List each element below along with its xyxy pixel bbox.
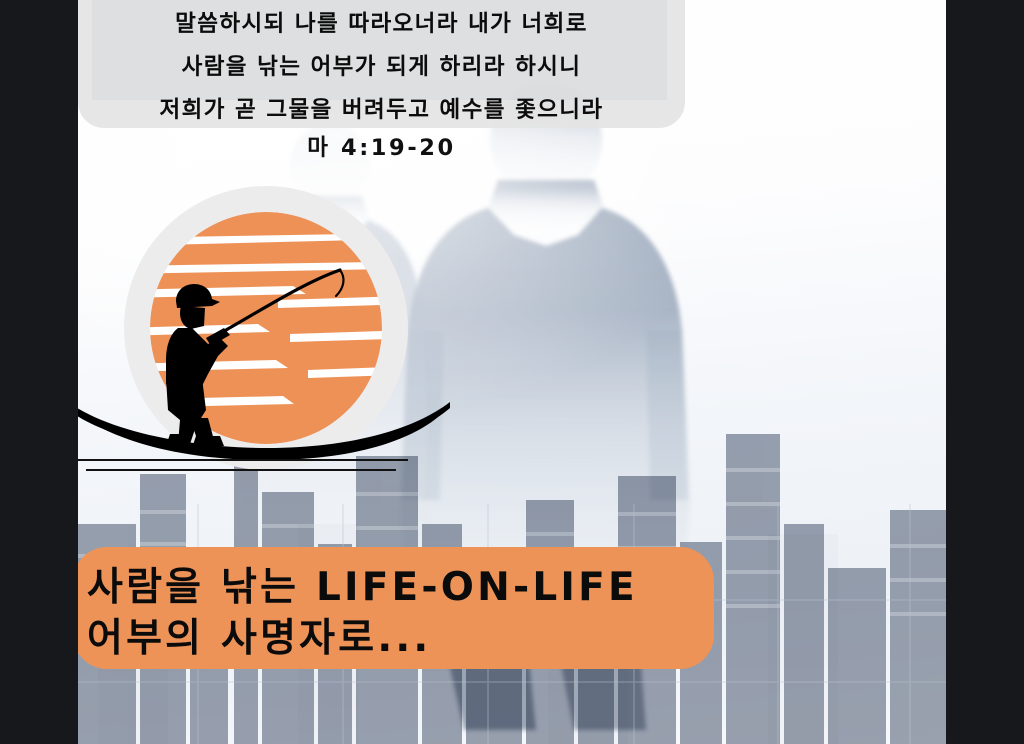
letterbox-left [0,0,78,744]
scripture-line-3: 저희가 곧 그물을 버려두고 예수를 좇으니라 [78,89,685,132]
title-banner: 사람을 낚는 LIFE-ON-LIFE 어부의 사명자로... [78,547,714,669]
fisherman-in-boat-logo [78,178,458,478]
scripture-line-2: 사람을 낚는 어부가 되게 하리라 하시니 [78,46,685,89]
scripture-text: 말씀하시되 나를 따라오너라 내가 너희로 사람을 낚는 어부가 되게 하리라 … [78,0,685,132]
scripture-reference: 마 4:19-20 [78,130,685,162]
title-banner-line-1: 사람을 낚는 LIFE-ON-LIFE [87,556,638,612]
slide-viewer: 말씀하시되 나를 따라오너라 내가 너희로 사람을 낚는 어부가 되게 하리라 … [0,0,1024,744]
title-banner-line-2: 어부의 사명자로... [87,607,431,663]
presentation-slide: 말씀하시되 나를 따라오너라 내가 너희로 사람을 낚는 어부가 되게 하리라 … [78,0,946,744]
scripture-line-1: 말씀하시되 나를 따라오너라 내가 너희로 [78,3,685,46]
letterbox-right [946,0,1024,744]
